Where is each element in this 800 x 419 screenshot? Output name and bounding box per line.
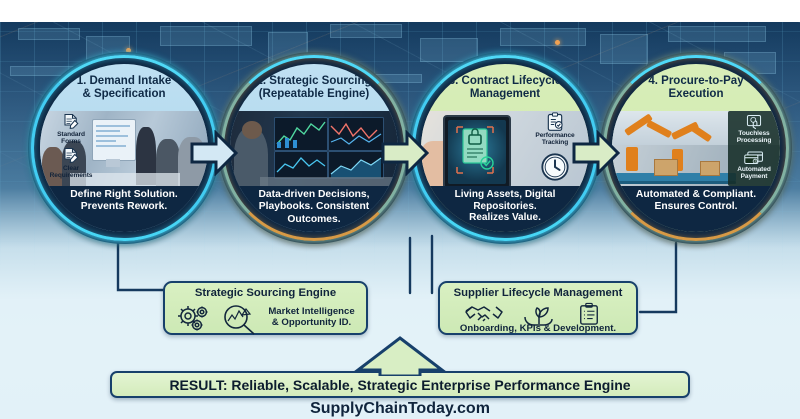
clock-icon	[539, 151, 571, 183]
node-title-line1: 2. Strategic Sourcing	[256, 75, 371, 87]
node-title-line2: (Repeatable Engine)	[259, 88, 370, 100]
clipboard-check-icon	[545, 112, 565, 132]
flow-arrow-3-to-4	[572, 130, 620, 176]
magnifier-chart-icon	[220, 303, 260, 335]
node-title: 1. Demand Intake & Specification	[46, 75, 202, 101]
node-caption: Data-driven Decisions, Playbooks. Consis…	[230, 186, 398, 232]
touch-tap-icon	[745, 114, 763, 130]
document-pencil-icon	[62, 147, 80, 165]
document-pencil-icon	[62, 113, 80, 131]
node-title-line1: 1. Demand Intake	[77, 75, 172, 87]
result-label: RESULT: Reliable, Scalable, Strategic En…	[112, 377, 688, 393]
node-title-line2: & Specification	[82, 88, 165, 100]
support-box-subtitle: Onboarding, KPIs & Development.	[440, 323, 636, 334]
gears-icon	[175, 305, 217, 333]
node-photo: Standard Forms Clear Requirements	[40, 111, 208, 186]
node-photo	[230, 111, 398, 186]
node-caption: Automated & Compliant. Ensures Control.	[612, 186, 780, 232]
node-caption: Living Assets, Digital Repositories. Rea…	[421, 186, 589, 232]
footer-brand: SupplyChainToday.com	[0, 400, 800, 419]
overlay-clear-requirements: Clear Requirements	[42, 147, 100, 180]
node-title-line1: 4. Procure-to-Pay	[648, 75, 743, 87]
overlay-standard-forms: Standard Forms	[48, 113, 94, 146]
support-box-supplier-lifecycle-management[interactable]: Supplier Lifecycle Management	[438, 281, 638, 335]
node-inner: 1. Demand Intake & Specification	[40, 64, 208, 232]
overlay-touchless-processing: Touchless Processing	[728, 114, 780, 145]
node-title: 3. Contract Lifecycle Management	[427, 75, 583, 101]
node-caption: Define Right Solution. Prevents Rework.	[40, 186, 208, 232]
node-title-line2: Management	[470, 88, 540, 100]
support-box-subtitle: Market Intelligence & Opportunity ID.	[261, 306, 362, 328]
title-band	[0, 0, 800, 22]
node-inner: 4. Procure-to-Pay Execution	[612, 64, 780, 232]
support-box-title: Strategic Sourcing Engine	[165, 287, 366, 299]
credit-card-icon	[744, 151, 764, 166]
node-photo: Performance Tracking	[421, 111, 589, 186]
node-inner: 3. Contract Lifecycle Management	[421, 64, 589, 232]
handshake-icon	[464, 304, 504, 324]
node-inner: 2. Strategic Sourcing (Repeatable Engine…	[230, 64, 398, 232]
node-title: 4. Procure-to-Pay Execution	[618, 75, 774, 101]
support-box-title: Supplier Lifecycle Management	[440, 287, 636, 299]
node-photo: Touchless Processing Automated Payment	[612, 111, 780, 186]
stage-node-4[interactable]: 4. Procure-to-Pay Execution	[600, 52, 792, 244]
contract-lock-icon	[453, 123, 497, 177]
result-up-arrow	[352, 336, 448, 376]
node-title-line2: Execution	[669, 88, 724, 100]
flow-arrow-1-to-2	[190, 130, 238, 176]
overlay-automated-payment: Automated Payment	[728, 151, 780, 181]
infographic-canvas: 1. Demand Intake & Specification	[0, 0, 800, 419]
flow-arrow-2-to-3	[381, 130, 429, 176]
node-title: 2. Strategic Sourcing (Repeatable Engine…	[236, 75, 392, 101]
support-box-strategic-sourcing-engine[interactable]: Strategic Sourcing Engine Market Intelli…	[163, 281, 368, 335]
node-title-line1: 3. Contract Lifecycle	[449, 75, 561, 87]
